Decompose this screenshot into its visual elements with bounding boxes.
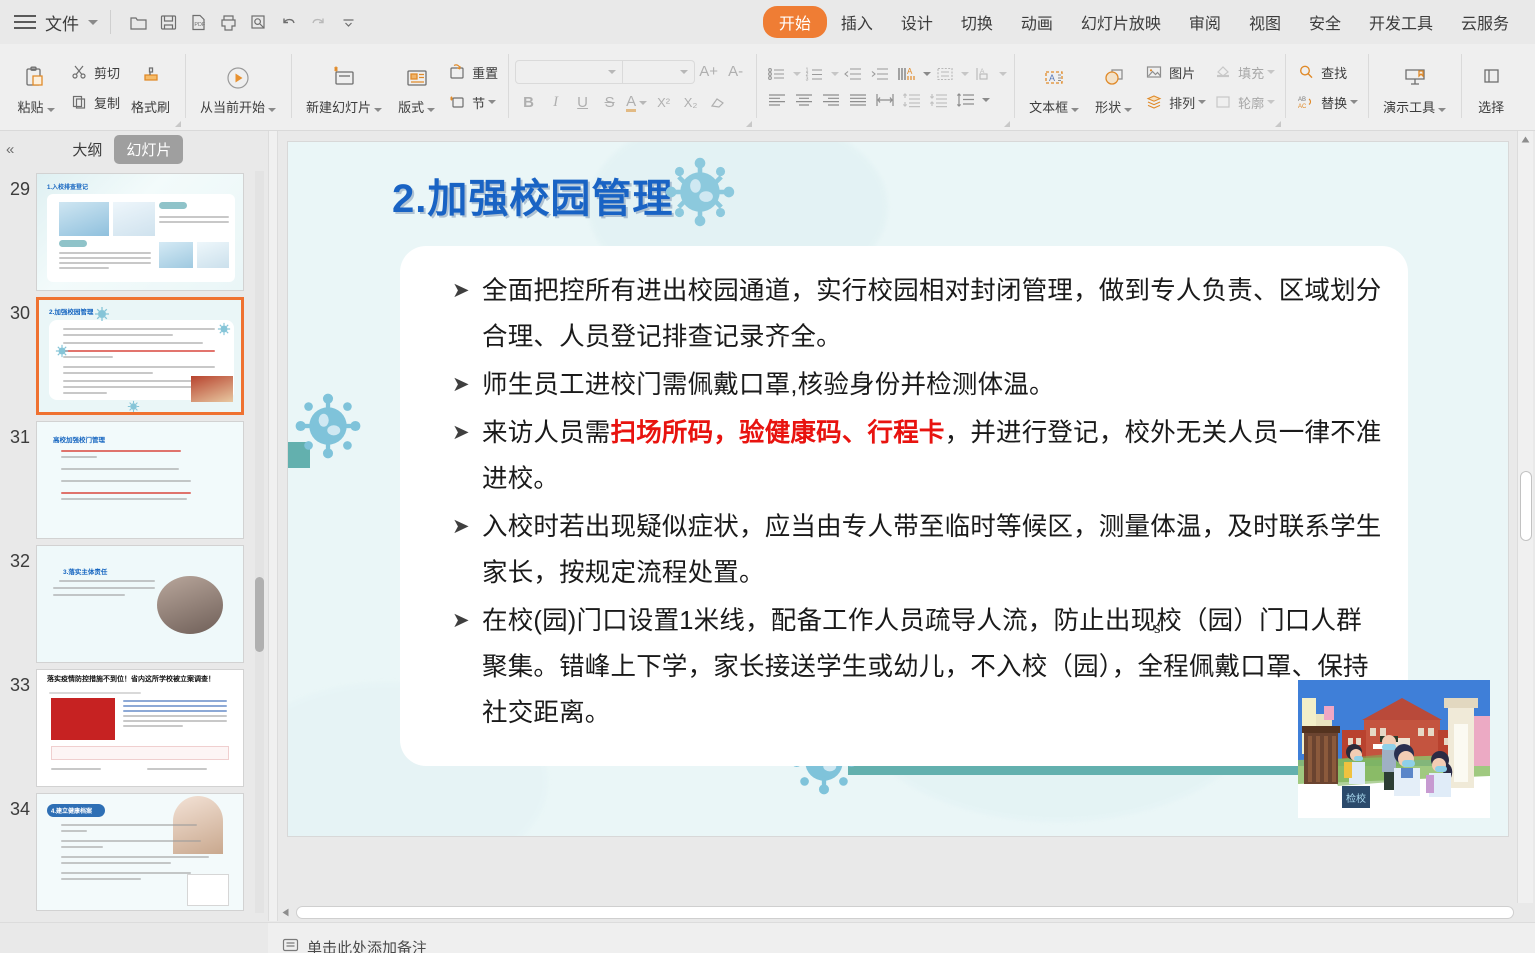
slide-navigator-pane: « 大纲 幻灯片 29 1.入校排查登记 bbox=[0, 131, 268, 921]
outline-button[interactable]: 轮廓 bbox=[1209, 87, 1278, 117]
thumb-title: 高校加强校门管理 bbox=[53, 434, 105, 444]
drawing-dialog-launcher[interactable] bbox=[1274, 120, 1281, 127]
navigator-scrollbar[interactable] bbox=[255, 171, 264, 913]
tab-developer[interactable]: 开发工具 bbox=[1355, 6, 1447, 38]
slide-title[interactable]: 2.加强校园管理 bbox=[392, 166, 673, 224]
slide-number: 30 bbox=[6, 297, 30, 324]
layout-icon bbox=[402, 59, 432, 93]
slide-thumbnail-32[interactable]: 3.落实主体责任 bbox=[36, 545, 244, 663]
slide-number: 34 bbox=[6, 793, 30, 820]
picture-button[interactable]: 图片 bbox=[1140, 57, 1209, 87]
present-tools-icon bbox=[1400, 59, 1430, 93]
find-button[interactable]: 查找 bbox=[1292, 57, 1361, 87]
chevron-down-icon[interactable] bbox=[1071, 108, 1079, 112]
subscript-button[interactable]: X₂ bbox=[677, 90, 704, 115]
scroll-up-icon[interactable] bbox=[1518, 131, 1533, 147]
bullet-text: 师生员工进校门需佩戴口罩,核验身份并检测体温。 bbox=[482, 362, 1055, 408]
school-gate-illustration[interactable]: 检校 bbox=[1298, 680, 1490, 818]
ribbon-group-clipboard: 粘贴 剪切 复制 bbox=[0, 44, 185, 130]
grow-font-button[interactable]: A+ bbox=[695, 59, 722, 84]
slide-thumbnail-29[interactable]: 1.入校排查登记 bbox=[36, 173, 244, 291]
slide-thumbnail-30[interactable]: 2.加强校园管理 bbox=[36, 297, 244, 415]
superscript-button[interactable]: X² bbox=[650, 90, 677, 115]
line-spacing-icon[interactable] bbox=[952, 87, 979, 113]
bullet-highlight: 扫场所码，验健康码、行程卡 bbox=[611, 419, 945, 447]
arrange-label: 排列 bbox=[1169, 93, 1195, 112]
bullet-text: 在校(园)门口设置1米线，配备工作人员疏导人流，防止出现校（园）门口人群聚集。错… bbox=[482, 598, 1382, 736]
fill-button[interactable]: 填充 bbox=[1209, 57, 1278, 87]
text-direction-icon[interactable]: A bbox=[893, 61, 920, 87]
bullet-list: ➤ 全面把控所有进出校园通道，实行校园相对封闭管理，做到专人负责、区域划分合理、… bbox=[452, 268, 1382, 738]
font-dialog-launcher[interactable] bbox=[745, 120, 752, 127]
export-pdf-icon[interactable]: PDF bbox=[183, 7, 213, 37]
chevron-down-icon[interactable] bbox=[831, 72, 839, 76]
fill-outline-commands: 填充 轮廓 bbox=[1209, 50, 1278, 124]
find-label: 查找 bbox=[1321, 63, 1347, 82]
slide-thumbnail-list[interactable]: 29 1.入校排查登记 bbox=[0, 167, 258, 921]
tab-transition[interactable]: 切换 bbox=[947, 6, 1007, 38]
text-color-button[interactable]: A bbox=[623, 90, 650, 115]
chevron-down-icon[interactable] bbox=[639, 101, 647, 105]
new-slide-icon bbox=[329, 59, 359, 93]
chevron-down-icon[interactable] bbox=[793, 72, 801, 76]
chevron-down-icon[interactable] bbox=[1124, 108, 1132, 112]
new-slide-button[interactable]: 新建幻灯片 bbox=[298, 50, 390, 124]
strikethrough-button[interactable]: S bbox=[596, 90, 623, 115]
cut-button[interactable]: 剪切 bbox=[65, 57, 123, 87]
ribbon-tabs: 开始 插入 设计 切换 动画 幻灯片放映 审阅 视图 安全 开发工具 云服务 bbox=[763, 6, 1523, 38]
reset-icon bbox=[446, 63, 468, 81]
shape-icon bbox=[1099, 59, 1129, 93]
svg-text:AB: AB bbox=[1298, 97, 1306, 103]
stage-horizontal-scrollbar[interactable] bbox=[278, 903, 1518, 921]
select-label: 选择 bbox=[1478, 97, 1504, 116]
paste-icon bbox=[22, 59, 50, 93]
undo-icon[interactable] bbox=[273, 7, 303, 37]
customize-quick-access-icon[interactable] bbox=[333, 7, 363, 37]
bullet-text: 入校时若出现疑似症状，应当由专人带至临时等候区，测量体温，及时联系学生家长，按规… bbox=[482, 504, 1382, 596]
pane-splitter[interactable] bbox=[268, 131, 278, 921]
select-icon bbox=[1476, 59, 1506, 93]
svg-text:A: A bbox=[907, 67, 913, 76]
format-painter-label: 格式刷 bbox=[131, 97, 170, 116]
start-from-current-button[interactable]: 从当前开始 bbox=[192, 50, 284, 124]
print-icon[interactable] bbox=[213, 7, 243, 37]
format-painter-button[interactable]: 格式刷 bbox=[123, 50, 178, 124]
text-box-button[interactable]: A 文本框 bbox=[1021, 50, 1087, 124]
reset-label: 重置 bbox=[472, 63, 498, 82]
thumb-title: 1.入校排查登记 bbox=[47, 182, 88, 191]
tab-slideshow[interactable]: 幻灯片放映 bbox=[1067, 6, 1175, 38]
navigator-tabs: 大纲 幻灯片 bbox=[60, 135, 183, 164]
paragraph-dialog-launcher[interactable] bbox=[1003, 120, 1010, 127]
line-space-up-icon[interactable] bbox=[898, 87, 925, 113]
find-replace-commands: 查找 ABAC 替换 bbox=[1292, 50, 1361, 124]
chevron-down-icon[interactable] bbox=[268, 108, 276, 112]
title-bar: 文件 PDF 开始 插入 设计 切换 bbox=[0, 0, 1535, 44]
text-box-label: 文本框 bbox=[1029, 100, 1068, 115]
tab-security[interactable]: 安全 bbox=[1295, 6, 1355, 38]
svg-text:AC: AC bbox=[1298, 104, 1307, 110]
numbered-list-icon[interactable]: 123 bbox=[801, 61, 828, 87]
chevron-down-icon[interactable] bbox=[1198, 100, 1206, 104]
chevron-down-icon[interactable] bbox=[1267, 70, 1275, 74]
underline-button[interactable]: U bbox=[569, 90, 596, 115]
list-item[interactable]: 31 高校加强校门管理 bbox=[0, 415, 258, 539]
format-painter-icon bbox=[137, 59, 165, 93]
chevron-down-icon[interactable] bbox=[999, 72, 1007, 76]
notes-left-filler bbox=[0, 922, 268, 953]
notes-icon bbox=[282, 937, 299, 953]
bullet-item[interactable]: ➤ 入校时若出现疑似症状，应当由专人带至临时等候区，测量体温，及时联系学生家长，… bbox=[452, 504, 1382, 596]
chevron-down-icon[interactable] bbox=[47, 108, 55, 112]
scrollbar-track[interactable] bbox=[255, 171, 264, 913]
bullet-arrow-icon: ➤ bbox=[452, 598, 482, 644]
bold-button[interactable]: B bbox=[515, 90, 542, 115]
replace-button[interactable]: ABAC 替换 bbox=[1292, 87, 1361, 117]
file-menu-button[interactable]: 文件 bbox=[45, 10, 79, 35]
align-text-icon[interactable]: A bbox=[969, 61, 996, 87]
thumb-title: 落实疫情防控措施不到位！省内这所学校被立案调查！ bbox=[47, 675, 237, 684]
collapse-pane-icon[interactable]: « bbox=[6, 141, 12, 158]
list-item[interactable]: 32 3.落实主体责任 bbox=[0, 539, 258, 663]
slide-number: 32 bbox=[6, 545, 30, 572]
virus-icon bbox=[292, 390, 364, 462]
section-icon bbox=[446, 93, 468, 111]
shape-button[interactable]: 形状 bbox=[1087, 50, 1140, 124]
ribbon-toolbar: 粘贴 剪切 复制 bbox=[0, 44, 1535, 131]
shape-label: 形状 bbox=[1095, 100, 1121, 115]
slide-title-text: 加强校园管理 bbox=[427, 177, 673, 221]
copy-icon bbox=[68, 94, 90, 110]
chevron-down-icon bbox=[608, 70, 616, 74]
ribbon-group-drawing: A 文本框 形状 图片 bbox=[1014, 44, 1285, 130]
tab-design[interactable]: 设计 bbox=[887, 6, 947, 38]
picture-icon bbox=[1143, 63, 1165, 81]
tab-slides[interactable]: 幻灯片 bbox=[114, 135, 183, 164]
paste-button[interactable]: 粘贴 bbox=[7, 50, 65, 124]
chevron-down-icon[interactable] bbox=[923, 72, 931, 76]
tab-animation[interactable]: 动画 bbox=[1007, 6, 1067, 38]
replace-icon: ABAC bbox=[1295, 93, 1317, 111]
new-slide-label: 新建幻灯片 bbox=[306, 100, 371, 115]
svg-text:A: A bbox=[1049, 73, 1055, 83]
bullet-item[interactable]: ➤ 来访人员需扫场所码，验健康码、行程卡，并进行登记，校外无关人员一律不准进校。 bbox=[452, 410, 1382, 502]
slide-content-card[interactable]: ➤ 全面把控所有进出校园通道，实行校园相对封闭管理，做到专人负责、区域划分合理、… bbox=[400, 246, 1408, 766]
present-tools-button[interactable]: 演示工具 bbox=[1375, 50, 1454, 124]
paste-label: 粘贴 bbox=[17, 100, 43, 115]
align-right-icon[interactable] bbox=[817, 87, 844, 113]
divider bbox=[110, 10, 111, 34]
scrollbar-thumb[interactable] bbox=[255, 577, 264, 652]
ribbon-group-select: 选择 bbox=[1461, 44, 1521, 130]
reset-button[interactable]: 重置 bbox=[443, 57, 501, 87]
paragraph-controls: 123 A bbox=[763, 50, 1007, 124]
bullet-list-icon[interactable] bbox=[763, 61, 790, 87]
thumb-title: 3.落实主体责任 bbox=[63, 566, 107, 576]
app-menu-icon[interactable] bbox=[14, 14, 36, 30]
scrollbar-track[interactable] bbox=[296, 906, 1514, 919]
clipboard-dialog-launcher[interactable] bbox=[174, 120, 181, 127]
search-icon bbox=[1295, 63, 1317, 81]
wps-presentation-window: 文件 PDF 开始 插入 设计 切换 bbox=[0, 0, 1535, 953]
start-from-current-label: 从当前开始 bbox=[200, 100, 265, 115]
list-item[interactable]: 34 4.建立健康档案 bbox=[0, 787, 258, 911]
work-area: « 大纲 幻灯片 29 1.入校排查登记 bbox=[0, 131, 1535, 953]
thumb-title: 4.建立健康档案 bbox=[51, 806, 92, 815]
bullet-item[interactable]: ➤ 师生员工进校门需佩戴口罩,核验身份并检测体温。 bbox=[452, 362, 1382, 408]
align-left-icon[interactable] bbox=[763, 87, 790, 113]
bullet-item[interactable]: ➤ 全面把控所有进出校园通道，实行校园相对封闭管理，做到专人负责、区域划分合理、… bbox=[452, 268, 1382, 360]
slide-thumbnail-34[interactable]: 4.建立健康档案 bbox=[36, 793, 244, 911]
arrange-button[interactable]: 排列 bbox=[1140, 87, 1209, 117]
italic-button[interactable]: I bbox=[542, 90, 569, 115]
present-tools-label: 演示工具 bbox=[1383, 100, 1435, 115]
chevron-down-icon[interactable] bbox=[88, 20, 98, 25]
thumb-title: 2.加强校园管理 bbox=[49, 306, 93, 316]
section-label: 节 bbox=[472, 93, 485, 112]
slide-editing-stage: 2.加强校园管理 bbox=[278, 131, 1535, 921]
slides-commands: 重置 节 bbox=[443, 50, 501, 124]
tab-start[interactable]: 开始 bbox=[763, 6, 827, 38]
clear-format-icon[interactable] bbox=[704, 90, 731, 115]
notes-placeholder: 单击此处添加备注 bbox=[307, 937, 427, 953]
chevron-down-icon[interactable] bbox=[374, 108, 382, 112]
section-button[interactable]: 节 bbox=[443, 87, 501, 117]
ribbon-group-paragraph: 123 A bbox=[756, 44, 1014, 130]
teal-accent-line-bottom bbox=[848, 766, 1338, 775]
layout-label: 版式 bbox=[398, 100, 424, 115]
virus-icon bbox=[662, 154, 738, 230]
chevron-down-icon[interactable] bbox=[1438, 108, 1446, 112]
line-space-down-icon[interactable] bbox=[925, 87, 952, 113]
notes-pane[interactable]: 单击此处添加备注 bbox=[268, 922, 1535, 953]
tab-cloud[interactable]: 云服务 bbox=[1447, 6, 1523, 38]
chevron-down-icon bbox=[680, 70, 688, 74]
slide-number: 29 bbox=[6, 173, 30, 200]
tab-review[interactable]: 审阅 bbox=[1175, 6, 1235, 38]
bullet-arrow-icon: ➤ bbox=[452, 268, 482, 314]
replace-label: 替换 bbox=[1321, 93, 1347, 112]
columns-icon[interactable] bbox=[931, 61, 958, 87]
slide-title-number: 2. bbox=[392, 177, 427, 221]
list-item[interactable]: 33 落实疫情防控措施不到位！省内这所学校被立案调查！ bbox=[0, 663, 258, 787]
clipboard-commands: 剪切 复制 bbox=[65, 50, 123, 124]
bullet-item[interactable]: ➤ 在校(园)门口设置1米线，配备工作人员疏导人流，防止出现校（园）门口人群聚集… bbox=[452, 598, 1382, 736]
save-icon[interactable] bbox=[153, 7, 183, 37]
navigator-header: « 大纲 幻灯片 bbox=[0, 131, 268, 167]
scroll-left-icon[interactable] bbox=[278, 908, 292, 917]
select-button[interactable]: 选择 bbox=[1468, 50, 1514, 124]
tab-insert[interactable]: 插入 bbox=[827, 6, 887, 38]
stray-character: s bbox=[1154, 618, 1161, 638]
increase-indent-icon[interactable] bbox=[866, 61, 893, 87]
tab-view[interactable]: 视图 bbox=[1235, 6, 1295, 38]
photo-caption: 检校 bbox=[1346, 792, 1366, 805]
outline-icon bbox=[1212, 93, 1234, 111]
list-item[interactable]: 30 2.加强校园管理 bbox=[0, 291, 258, 415]
font-controls: A+ A- B I U S A X² X₂ bbox=[515, 50, 749, 124]
distribute-icon[interactable] bbox=[871, 87, 898, 113]
copy-button[interactable]: 复制 bbox=[65, 87, 123, 117]
font-name-select[interactable] bbox=[515, 60, 623, 84]
ribbon-group-editing: 查找 ABAC 替换 bbox=[1285, 44, 1368, 130]
bullet-arrow-icon: ➤ bbox=[452, 362, 482, 408]
cut-label: 剪切 bbox=[94, 63, 120, 82]
list-item[interactable]: 29 1.入校排查登记 bbox=[0, 167, 258, 291]
font-size-select[interactable] bbox=[623, 60, 695, 84]
copy-label: 复制 bbox=[94, 93, 120, 112]
bullet-text: 来访人员需扫场所码，验健康码、行程卡，并进行登记，校外无关人员一律不准进校。 bbox=[482, 410, 1382, 502]
fill-label: 填充 bbox=[1238, 63, 1264, 82]
justify-icon[interactable] bbox=[844, 87, 871, 113]
slide-number: 33 bbox=[6, 669, 30, 696]
outline-label: 轮廓 bbox=[1238, 93, 1264, 112]
bullet-arrow-icon: ➤ bbox=[452, 410, 482, 456]
chevron-down-icon[interactable] bbox=[488, 100, 496, 104]
bullet-arrow-icon: ➤ bbox=[452, 504, 482, 550]
shrink-font-button[interactable]: A- bbox=[722, 59, 749, 84]
svg-text:PDF: PDF bbox=[194, 22, 205, 28]
play-circle-icon bbox=[223, 59, 253, 93]
redo-icon[interactable] bbox=[303, 7, 333, 37]
drawing-commands: 图片 排列 bbox=[1140, 50, 1209, 124]
ribbon-group-slideshow: 从当前开始 bbox=[185, 44, 291, 130]
text-box-icon: A bbox=[1039, 59, 1069, 93]
print-preview-icon[interactable] bbox=[243, 7, 273, 37]
slide-thumbnail-33[interactable]: 落实疫情防控措施不到位！省内这所学校被立案调查！ bbox=[36, 669, 244, 787]
chevron-down-icon[interactable] bbox=[1267, 100, 1275, 104]
ribbon-group-present-tools: 演示工具 bbox=[1368, 44, 1461, 130]
ribbon-group-font: A+ A- B I U S A X² X₂ bbox=[508, 44, 756, 130]
scrollbar-thumb[interactable] bbox=[1520, 471, 1532, 541]
tab-outline[interactable]: 大纲 bbox=[60, 135, 114, 164]
chevron-down-icon[interactable] bbox=[961, 72, 969, 76]
open-icon[interactable] bbox=[123, 7, 153, 37]
ribbon-group-slides: 新建幻灯片 版式 重置 节 bbox=[291, 44, 508, 130]
arrange-icon bbox=[1143, 93, 1165, 111]
slide-number: 31 bbox=[6, 421, 30, 448]
layout-button[interactable]: 版式 bbox=[390, 50, 443, 124]
slide-thumbnail-31[interactable]: 高校加强校门管理 bbox=[36, 421, 244, 539]
bullet-text: 全面把控所有进出校园通道，实行校园相对封闭管理，做到专人负责、区域划分合理、人员… bbox=[482, 268, 1382, 360]
fill-icon bbox=[1212, 63, 1234, 81]
current-slide-canvas[interactable]: 2.加强校园管理 bbox=[288, 142, 1508, 836]
chevron-down-icon[interactable] bbox=[982, 98, 990, 102]
scissors-icon bbox=[68, 64, 90, 80]
svg-text:3: 3 bbox=[805, 76, 808, 82]
picture-label: 图片 bbox=[1169, 63, 1195, 82]
chevron-down-icon[interactable] bbox=[427, 108, 435, 112]
stage-vertical-scrollbar[interactable] bbox=[1517, 131, 1533, 903]
decrease-indent-icon[interactable] bbox=[839, 61, 866, 87]
align-center-icon[interactable] bbox=[790, 87, 817, 113]
chevron-down-icon[interactable] bbox=[1350, 100, 1358, 104]
